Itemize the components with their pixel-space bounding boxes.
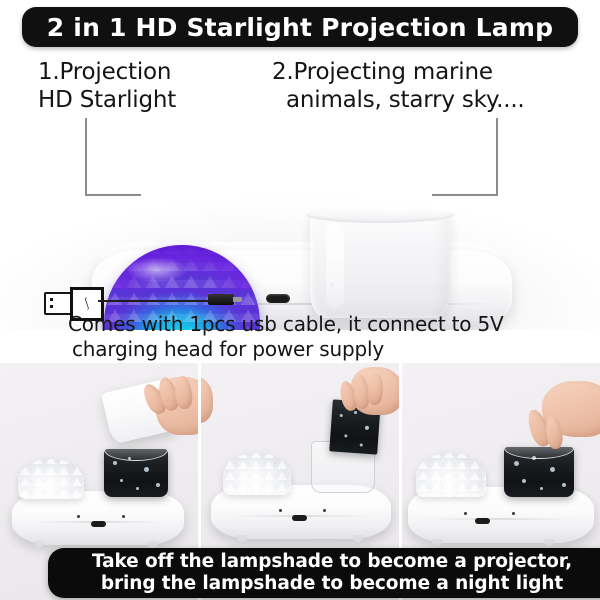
- panel1-foot-left: [34, 541, 44, 548]
- panel2-foot-left: [237, 535, 247, 542]
- pointer-line-left: [85, 118, 141, 196]
- panel2-dot-left: [279, 509, 282, 512]
- usb-barrel-plug-tip: [233, 297, 242, 302]
- bottom-caption-banner: Take off the lampshade to become a proje…: [48, 548, 600, 598]
- bottom-caption-line-1: Take off the lampshade to become a proje…: [92, 551, 572, 573]
- feature-2-number-label: 2.Projecting marine: [272, 59, 493, 85]
- title-banner: 2 in 1 HD Starlight Projection Lamp: [22, 7, 578, 47]
- panel1-sparkle: [136, 487, 139, 490]
- panel2-foot-right: [353, 535, 363, 542]
- panel1-crystal-dome: [18, 459, 84, 499]
- title-banner-text: 2 in 1 HD Starlight Projection Lamp: [47, 13, 553, 42]
- feature-2-detail-label: animals, starry sky....: [272, 86, 572, 114]
- lampshade-top-lip: [306, 207, 454, 223]
- panel1-lamp-base: [12, 491, 184, 545]
- pointer-right-vertical: [496, 118, 498, 196]
- panel3-sparkle: [550, 467, 555, 472]
- usb-note-line-2: charging head for power supply: [68, 337, 588, 362]
- usb-barrel-plug-icon: [208, 294, 234, 305]
- panel2-dome-facets: [223, 453, 291, 495]
- panel3-dome-facets: [416, 453, 486, 497]
- panel2-usb-port: [292, 515, 307, 521]
- usb-pin-bottom: [50, 305, 53, 308]
- panel1-starry-film-cylinder: [104, 449, 168, 497]
- panel1-usb-port: [91, 521, 106, 527]
- feature-1-detail-label: HD Starlight: [38, 87, 176, 113]
- panel2-sparkle: [360, 443, 363, 446]
- usb-trident-glyph: ⎰: [79, 296, 94, 311]
- panel3-glass-rim: [504, 447, 574, 459]
- usb-note-line-1: Comes with 1pcs usb cable, it connect to…: [68, 312, 504, 336]
- pointer-left-horizontal: [85, 194, 141, 196]
- panel3-foot-right: [544, 539, 554, 546]
- panel3-dot-left: [464, 512, 467, 515]
- panel1-glass-rim: [104, 449, 168, 461]
- usb-cable-wire: [98, 300, 210, 302]
- panel1-dot-left: [77, 515, 80, 518]
- panel2-sparkle: [344, 434, 347, 437]
- panel3-sparkle: [562, 483, 566, 487]
- panel1-sparkle: [120, 479, 123, 482]
- panel2-edge-palm: [201, 377, 213, 423]
- panel3-foot-left: [432, 539, 442, 546]
- panel3-sparkle: [540, 487, 543, 490]
- feature-caption-1: 1.Projection HD Starlight: [38, 58, 268, 114]
- panel1-dome-facets: [18, 459, 84, 499]
- panel1-sparkle: [144, 467, 149, 472]
- panel1-dot-right: [122, 515, 125, 518]
- pointer-left-vertical: [85, 118, 87, 196]
- panel3-sparkle: [522, 479, 526, 483]
- panel3-starry-film-cylinder: [504, 447, 574, 497]
- panel3-dot-right: [512, 512, 515, 515]
- panel2-sparkle: [354, 411, 357, 414]
- usb-note-text: Comes with 1pcs usb cable, it connect to…: [68, 312, 588, 362]
- product-infographic: 2 in 1 HD Starlight Projection Lamp 1.Pr…: [0, 0, 600, 600]
- panel1-sparkle: [156, 483, 160, 487]
- pointer-line-right: [432, 118, 498, 196]
- bottom-caption-line-2: bring the lampshade to become a night li…: [101, 573, 563, 595]
- panel3-base-seam: [423, 518, 579, 520]
- panel3-crystal-dome: [416, 453, 486, 497]
- panel3-sparkle: [514, 461, 519, 466]
- panel1-sparkle: [113, 461, 117, 465]
- pointer-right-horizontal: [432, 194, 498, 196]
- panel2-dot-right: [323, 509, 326, 512]
- panel2-crystal-dome: [223, 453, 291, 495]
- feature-caption-2: 2.Projecting marine animals, starry sky.…: [272, 58, 572, 114]
- usb-pin-top: [50, 298, 53, 301]
- dome-highlight: [126, 257, 188, 283]
- panel2-sparkle: [340, 414, 343, 417]
- panel2-sparkle: [365, 426, 369, 430]
- panel1-foot-right: [148, 541, 158, 548]
- panel3-usb-port: [475, 518, 490, 524]
- feature-1-number-label: 1.Projection: [38, 59, 171, 85]
